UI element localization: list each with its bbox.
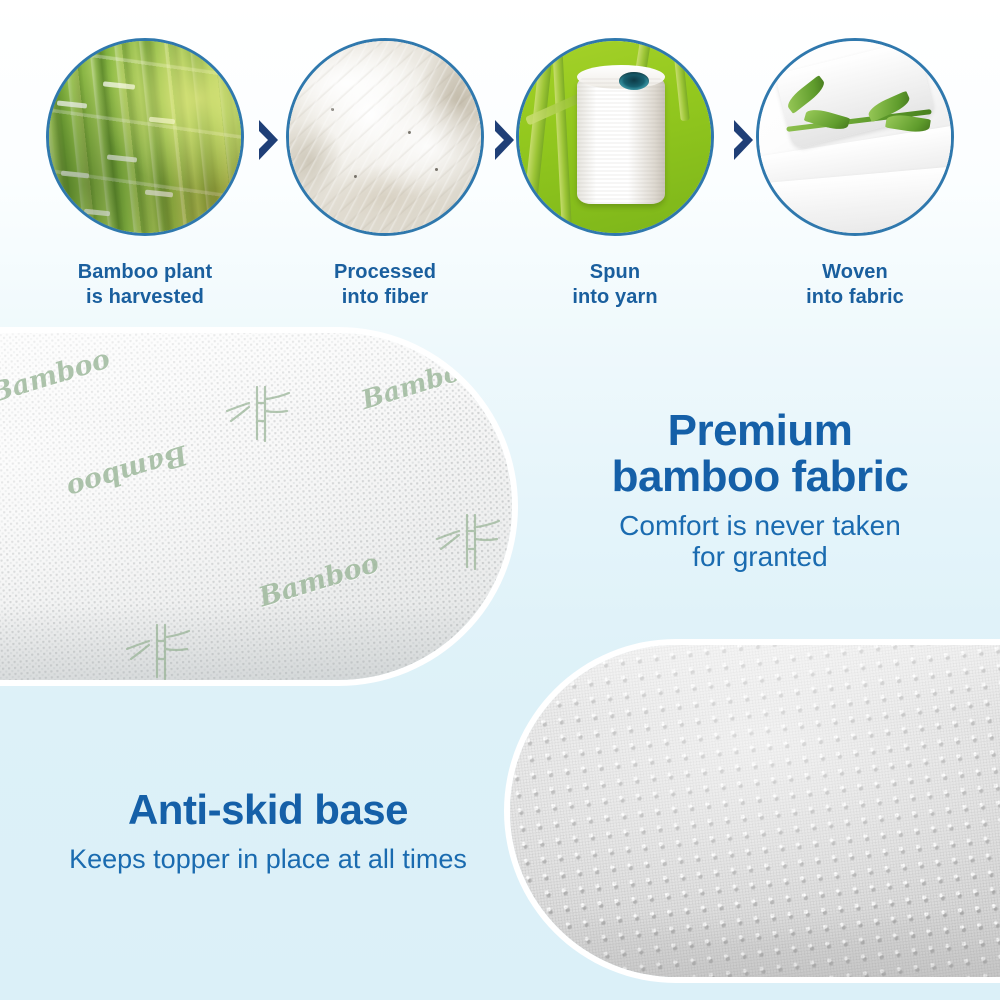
caption-line: into fabric [753,285,957,310]
bamboo-print-word: Bamboo [0,344,114,410]
process-step-3-image [516,38,714,236]
chevron-right-icon [256,118,282,162]
infographic-canvas: Bamboo plant is harvested Processed into… [0,0,1000,1000]
feature-subtitle: Comfort is never taken for granted [545,510,975,574]
caption-line: Processed [283,260,487,285]
caption-line: is harvested [43,285,247,310]
process-step-1-image [46,38,244,236]
caption-line: into yarn [513,285,717,310]
bamboo-grove-photo [49,41,241,233]
bamboo-print-word: Bamboo [255,548,382,614]
caption-line: Bamboo plant [43,260,247,285]
process-flow: Bamboo plant is harvested Processed into… [0,0,1000,320]
feature-title-line: bamboo fabric [545,454,975,500]
process-step-1-caption: Bamboo plant is harvested [43,260,247,310]
bamboo-sprig-icon [425,509,511,575]
process-step-2-image [286,38,484,236]
process-step-4-image [756,38,954,236]
chevron-right-icon [492,118,518,162]
bamboo-sprig-icon [115,619,201,680]
process-step-1: Bamboo plant is harvested [43,38,247,310]
feature-title-line: Premium [545,408,975,454]
bamboo-print-word: Bamboo [358,352,481,416]
woven-fabric-photo [759,41,951,233]
feature-title-line: Anti-skid base [34,788,502,832]
feature-subtitle-line: Comfort is never taken [545,510,975,542]
feature-premium-bamboo-fabric: Premium bamboo fabric Comfort is never t… [545,408,975,573]
antiskid-sheen [510,645,1000,977]
caption-line: into fiber [283,285,487,310]
feature-anti-skid-base: Anti-skid base Keeps topper in place at … [34,788,502,874]
anti-skid-dotted-base-swatch [510,645,1000,977]
process-step-3: Spun into yarn [513,38,717,310]
process-step-4: Woven into fabric [753,38,957,310]
process-step-2-caption: Processed into fiber [283,260,487,310]
feature-subtitle: Keeps topper in place at all times [34,844,502,875]
process-step-3-caption: Spun into yarn [513,260,717,310]
caption-line: Woven [753,260,957,285]
yarn-cone [577,76,665,204]
feature-subtitle-line: Keeps topper in place at all times [34,844,502,875]
process-step-4-caption: Woven into fabric [753,260,957,310]
yarn-cone-core [619,72,649,90]
bamboo-sprig-icon [215,381,301,447]
feature-subtitle-line: for granted [545,541,975,573]
feature-title: Premium bamboo fabric [545,408,975,500]
yarn-cone-photo [519,41,711,233]
caption-line: Spun [513,260,717,285]
process-step-2: Processed into fiber [283,38,487,310]
bamboo-fiber-photo [289,41,481,233]
chevron-right-icon [731,118,757,162]
feature-title: Anti-skid base [34,788,502,832]
bamboo-print-word: Bamboo [63,439,190,505]
bamboo-fabric-swatch: Bamboo Bamboo Bamboo Bamboo [0,333,512,680]
